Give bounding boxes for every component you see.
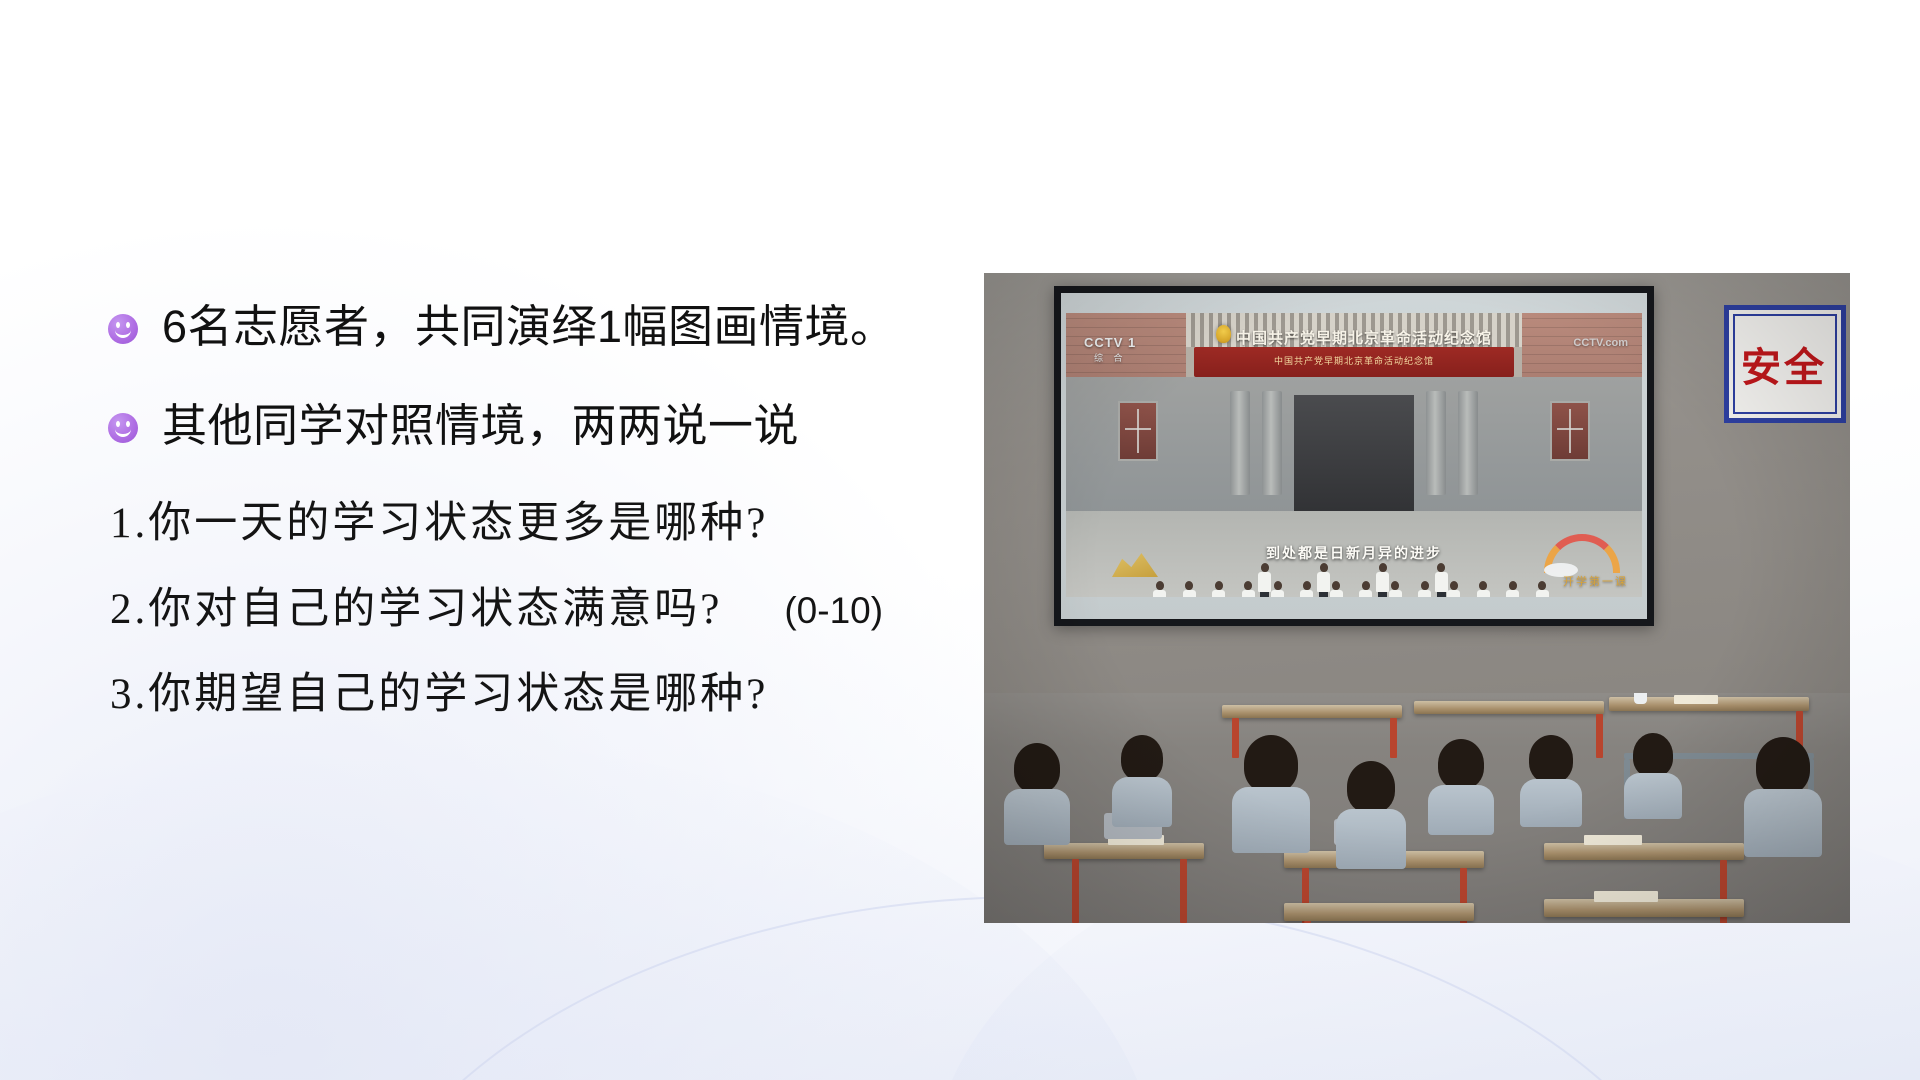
water-cup — [1634, 693, 1647, 704]
classroom-desk — [1544, 843, 1744, 860]
paper-sheet — [1594, 891, 1658, 902]
student-silhouette — [1232, 735, 1310, 853]
bullet-item-2: 其他同学对照情境，两两说一说 — [108, 399, 980, 452]
memorial-banner: 中国共产党早期北京革命活动纪念馆 — [1194, 347, 1514, 377]
building-facade — [1066, 377, 1642, 515]
cctv-watermark: CCTV.com — [1573, 337, 1628, 349]
question-item-1: 1.你一天的学习状态更多是哪种? — [110, 498, 980, 550]
student-silhouette — [1004, 743, 1070, 845]
building-doorway — [1294, 395, 1414, 515]
bullet-item-1: 6名志愿者，共同演绎1幅图画情境。 — [108, 300, 980, 353]
cctv-channel-sublabel: 综 合 — [1094, 351, 1127, 364]
smiley-icon — [108, 314, 138, 344]
projection-screen-surface: 中国共产党早期北京革命活动纪念馆 中国共产党早期北京革命活动纪念馆 CCTV 1… — [1061, 293, 1647, 619]
classroom-photo: 中国共产党早期北京革命活动纪念馆 中国共产党早期北京革命活动纪念馆 CCTV 1… — [984, 273, 1850, 923]
bullet-item-1-label: 6名志愿者，共同演绎1幅图画情境。 — [162, 300, 896, 353]
background-swoosh-outline — [330, 896, 1734, 1080]
program-title-stamp: 开学第一课 — [1563, 573, 1628, 589]
paper-sheet — [1584, 835, 1642, 845]
safety-poster: 安全 — [1724, 305, 1846, 423]
classroom-desk — [1414, 701, 1604, 714]
question-item-2: 2.你对自己的学习状态满意吗? (0-10) — [110, 584, 980, 636]
question-item-3: 3.你期望自己的学习状态是哪种? — [110, 669, 980, 721]
cctv-channel-logo: CCTV 1 — [1084, 335, 1136, 350]
presentation-slide: 6名志愿者，共同演绎1幅图画情境。 其他同学对照情境，两两说一说 1.你一天的学… — [0, 0, 1920, 1080]
facade-column — [1230, 391, 1250, 495]
video-subtitle: 到处都是日新月异的进步 — [1066, 543, 1642, 563]
classroom-desk — [1044, 843, 1204, 859]
classroom-desk — [1222, 705, 1402, 718]
classroom-foreground — [984, 693, 1850, 923]
classroom-desk — [1284, 903, 1474, 921]
paper-sheet — [1674, 695, 1718, 704]
student-silhouette — [1744, 737, 1822, 857]
question-item-2-scale: (0-10) — [784, 590, 883, 632]
projected-video-scene: 中国共产党早期北京革命活动纪念馆 中国共产党早期北京革命活动纪念馆 CCTV 1… — [1066, 313, 1642, 597]
student-silhouette — [1112, 735, 1172, 827]
desk-leg — [1072, 859, 1079, 923]
facade-column — [1426, 391, 1446, 495]
safety-poster-text: 安全 — [1741, 335, 1827, 393]
safety-poster-border: 安全 — [1733, 314, 1837, 414]
desk-leg — [1304, 921, 1311, 923]
student-silhouette — [1520, 735, 1582, 827]
desk-leg — [1596, 714, 1603, 758]
facade-window — [1118, 401, 1158, 461]
question-item-1-label: 1.你一天的学习状态更多是哪种? — [110, 498, 768, 550]
desk-leg — [1390, 718, 1397, 758]
student-silhouette — [1428, 739, 1494, 835]
memorial-hall-title: 中国共产党早期北京革命活动纪念馆 — [1236, 327, 1492, 348]
slide-text-column: 6名志愿者，共同演绎1幅图画情境。 其他同学对照情境，两两说一说 1.你一天的学… — [0, 300, 980, 721]
facade-column — [1262, 391, 1282, 495]
facade-window — [1550, 401, 1590, 461]
smiley-icon — [108, 413, 138, 443]
bullet-item-2-label: 其他同学对照情境，两两说一说 — [162, 399, 799, 452]
student-silhouette — [1336, 761, 1406, 869]
memorial-banner-text: 中国共产党早期北京革命活动纪念馆 — [1194, 354, 1514, 367]
facade-column — [1458, 391, 1478, 495]
party-emblem-icon — [1216, 325, 1231, 343]
desk-leg — [1180, 859, 1187, 923]
projection-screen: 中国共产党早期北京革命活动纪念馆 中国共产党早期北京革命活动纪念馆 CCTV 1… — [1054, 286, 1654, 626]
student-silhouette — [1624, 733, 1682, 819]
question-item-2-label: 2.你对自己的学习状态满意吗? — [110, 584, 722, 636]
question-item-3-label: 3.你期望自己的学习状态是哪种? — [110, 669, 768, 721]
